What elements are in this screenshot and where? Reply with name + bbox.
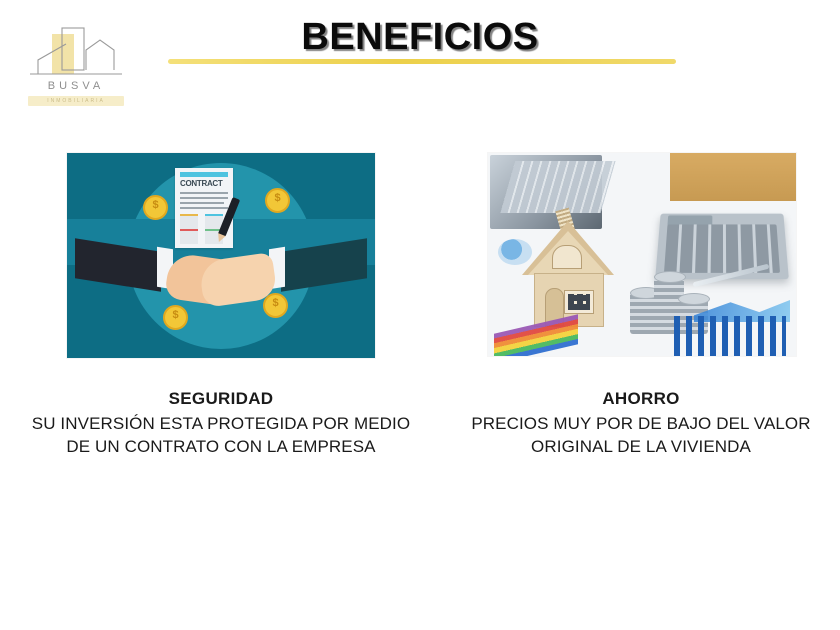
page-title: BENEFICIOS bbox=[0, 16, 840, 59]
dollar-coin-icon: $ bbox=[263, 293, 288, 318]
coin-stack-top bbox=[654, 271, 686, 283]
document-field-box bbox=[180, 214, 198, 229]
wooden-house-model bbox=[522, 209, 614, 327]
dollar-coin-icon: $ bbox=[265, 188, 290, 213]
benefit-body: SU INVERSIÓN ESTA PROTEGIDA POR MEDIO DE… bbox=[30, 413, 412, 458]
benefit-caption-seguridad: SEGURIDAD SU INVERSIÓN ESTA PROTEGIDA PO… bbox=[30, 388, 412, 458]
wood-surface bbox=[670, 153, 796, 201]
logo-wordmark: BUSVA bbox=[22, 80, 130, 92]
benefit-card-ahorro bbox=[488, 153, 796, 356]
calculator-icon bbox=[655, 214, 789, 279]
benefit-card-seguridad: CONTRACT $ $ $ $ bbox=[67, 153, 375, 358]
benefit-caption-ahorro: AHORRO PRECIOS MUY POR DE BAJO DEL VALOR… bbox=[450, 388, 832, 458]
bar-chart-graphic bbox=[674, 316, 786, 356]
logo-tagline: INMOBILIARIA bbox=[28, 96, 124, 106]
document-title-label: CONTRACT bbox=[180, 179, 228, 188]
title-underline-rule bbox=[168, 59, 676, 64]
keyboard-keys bbox=[501, 161, 616, 213]
document-text-line bbox=[180, 207, 228, 209]
benefit-body: PRECIOS MUY POR DE BAJO DEL VALOR ORIGIN… bbox=[450, 413, 832, 458]
benefit-title: SEGURIDAD bbox=[30, 388, 412, 410]
house-coins-calculator-photo bbox=[488, 153, 796, 356]
window-grid bbox=[568, 294, 590, 310]
handshake-contract-illustration: CONTRACT $ $ $ $ bbox=[67, 153, 375, 358]
document-field-box bbox=[180, 229, 198, 244]
house-window bbox=[564, 290, 594, 314]
dollar-coin-icon: $ bbox=[163, 305, 188, 330]
attic-window bbox=[552, 245, 582, 269]
document-header-bar bbox=[180, 172, 228, 177]
coin-stack-top bbox=[678, 293, 710, 305]
benefit-title: AHORRO bbox=[450, 388, 832, 410]
document-text-line bbox=[180, 202, 224, 204]
document-text-line bbox=[180, 192, 228, 194]
dollar-coin-icon: $ bbox=[143, 195, 168, 220]
document-text-line bbox=[180, 197, 228, 199]
